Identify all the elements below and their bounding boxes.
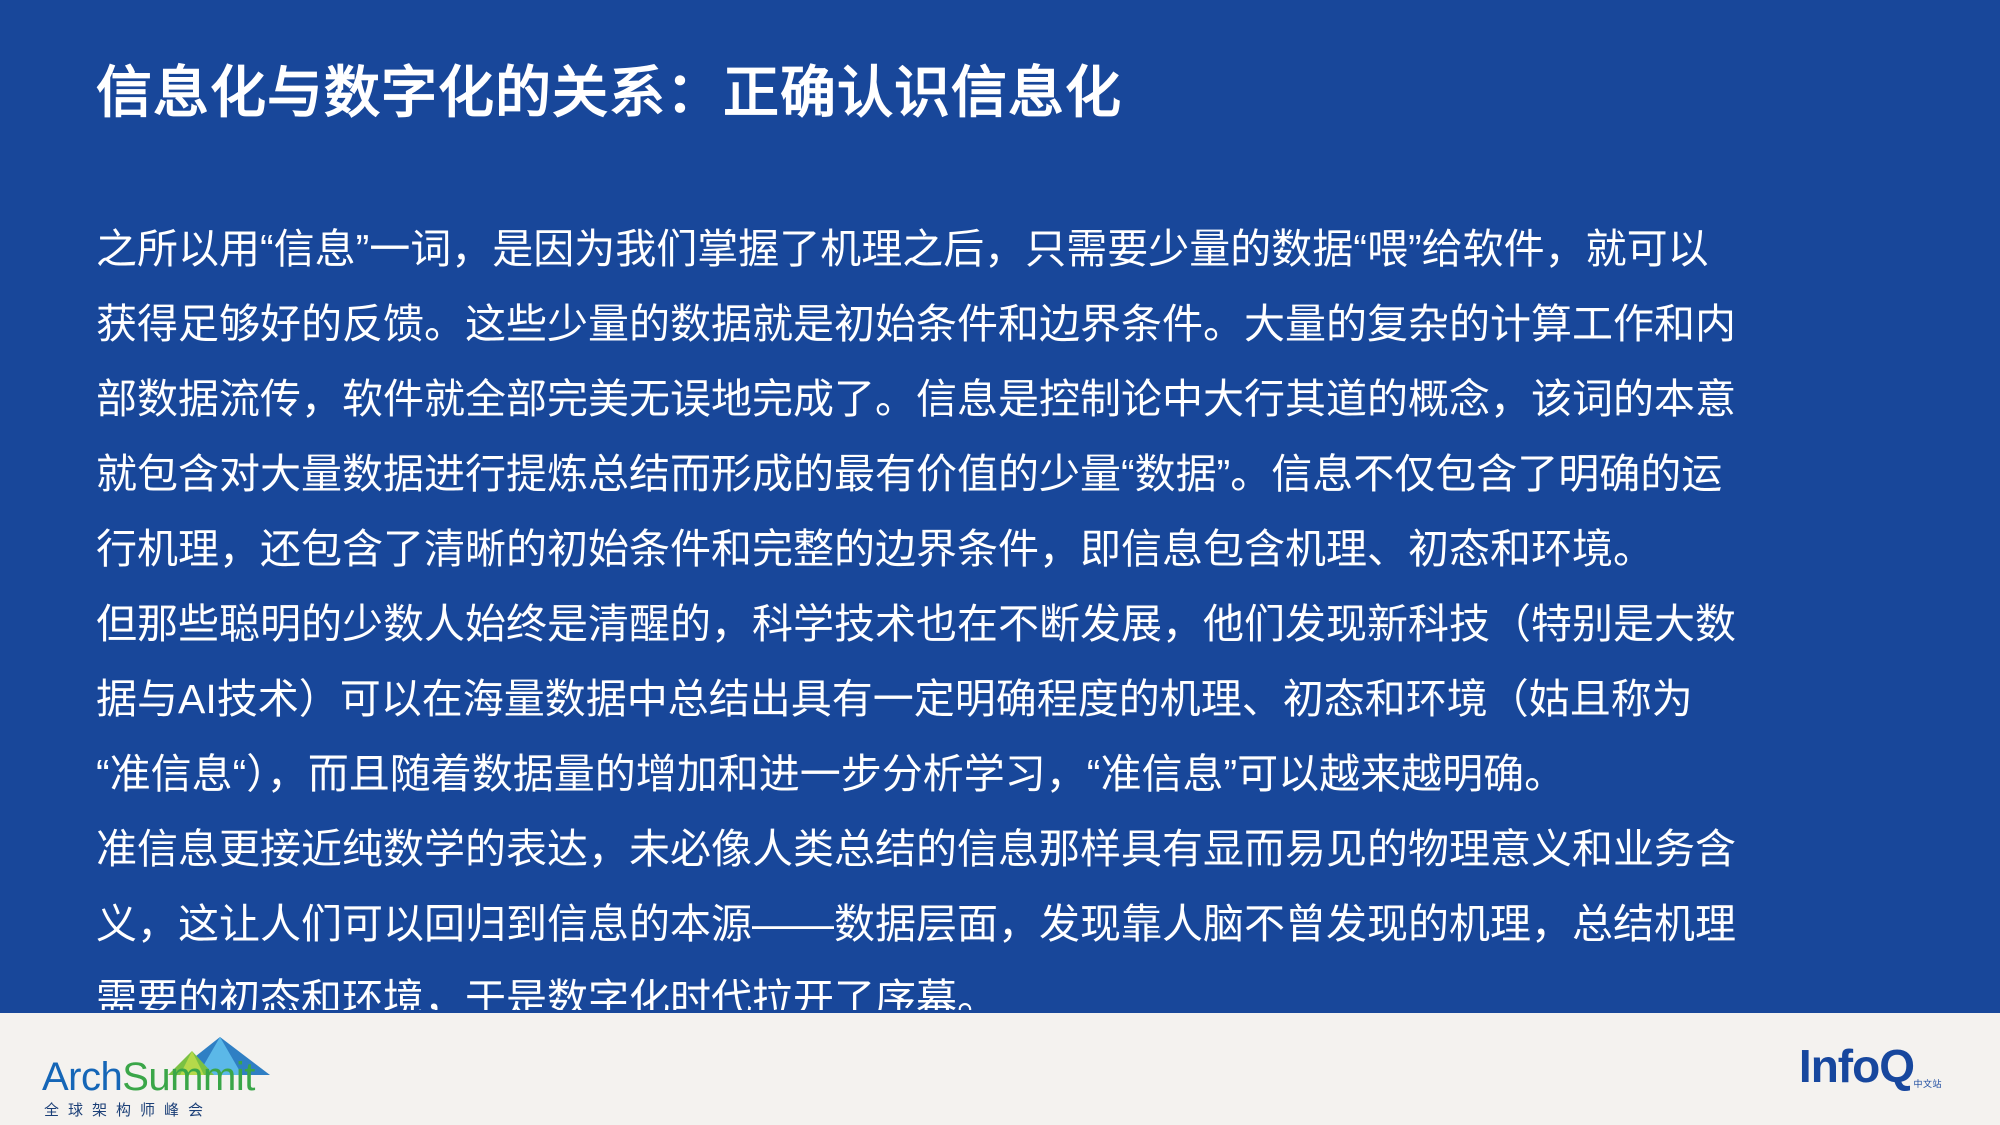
archsummit-subtitle: 全球架构师峰会 xyxy=(44,1099,212,1120)
paragraph-1-line-3: 部数据流传，软件就全部完美无误地完成了。信息是控制论中大行其道的概念，该词的本意 xyxy=(96,362,1926,437)
archsummit-wordmark: ArchSummit xyxy=(42,1057,255,1097)
archsummit-word-summit: Summit xyxy=(122,1055,255,1099)
paragraph-1: 之所以用“信息”一词，是因为我们掌握了机理之后，只需要少量的数据“喂”给软件，就… xyxy=(96,212,1926,587)
slide-footer: ArchSummit 全球架构师峰会 InfoQ 中文站 xyxy=(0,1010,2000,1125)
page-title: 信息化与数字化的关系：正确认识信息化 xyxy=(96,58,1916,128)
paragraph-2-line-3: “准信息“），而且随着数据量的增加和进一步分析学习，“准信息”可以越来越明确。 xyxy=(96,737,1926,812)
paragraph-3-line-1: 准信息更接近纯数学的表达，未必像人类总结的信息那样具有显而易见的物理意义和业务含 xyxy=(96,812,1926,887)
infoq-subtitle: 中文站 xyxy=(1913,1077,1942,1090)
archsummit-word-arch: Arch xyxy=(42,1055,122,1099)
paragraph-3: 准信息更接近纯数学的表达，未必像人类总结的信息那样具有显而易见的物理意义和业务含… xyxy=(96,812,1926,1037)
infoq-wordmark: InfoQ xyxy=(1799,1043,1914,1089)
paragraph-1-line-1: 之所以用“信息”一词，是因为我们掌握了机理之后，只需要少量的数据“喂”给软件，就… xyxy=(96,212,1926,287)
archsummit-logo: ArchSummit 全球架构师峰会 xyxy=(42,1035,292,1119)
paragraph-1-line-2: 获得足够好的反馈。这些少量的数据就是初始条件和边界条件。大量的复杂的计算工作和内 xyxy=(96,287,1926,362)
paragraph-1-line-4: 就包含对大量数据进行提炼总结而形成的最有价值的少量“数据”。信息不仅包含了明确的… xyxy=(96,437,1926,512)
slide-body: 信息化与数字化的关系：正确认识信息化 之所以用“信息”一词，是因为我们掌握了机理… xyxy=(0,0,2000,1010)
paragraph-3-line-2: 义，这让人们可以回归到信息的本源——数据层面，发现靠人脑不曾发现的机理，总结机理 xyxy=(96,887,1926,962)
paragraph-1-line-5: 行机理，还包含了清晰的初始条件和完整的边界条件，即信息包含机理、初态和环境。 xyxy=(96,512,1926,587)
paragraph-2: 但那些聪明的少数人始终是清醒的，科学技术也在不断发展，他们发现新科技（特别是大数… xyxy=(96,587,1926,812)
infoq-logo: InfoQ 中文站 xyxy=(1694,1043,1944,1103)
slide-content: 之所以用“信息”一词，是因为我们掌握了机理之后，只需要少量的数据“喂”给软件，就… xyxy=(96,212,1926,1037)
paragraph-2-line-1: 但那些聪明的少数人始终是清醒的，科学技术也在不断发展，他们发现新科技（特别是大数 xyxy=(96,587,1926,662)
paragraph-2-line-2: 据与AI技术）可以在海量数据中总结出具有一定明确程度的机理、初态和环境（姑且称为 xyxy=(96,662,1926,737)
slide: 信息化与数字化的关系：正确认识信息化 之所以用“信息”一词，是因为我们掌握了机理… xyxy=(0,0,2000,1125)
